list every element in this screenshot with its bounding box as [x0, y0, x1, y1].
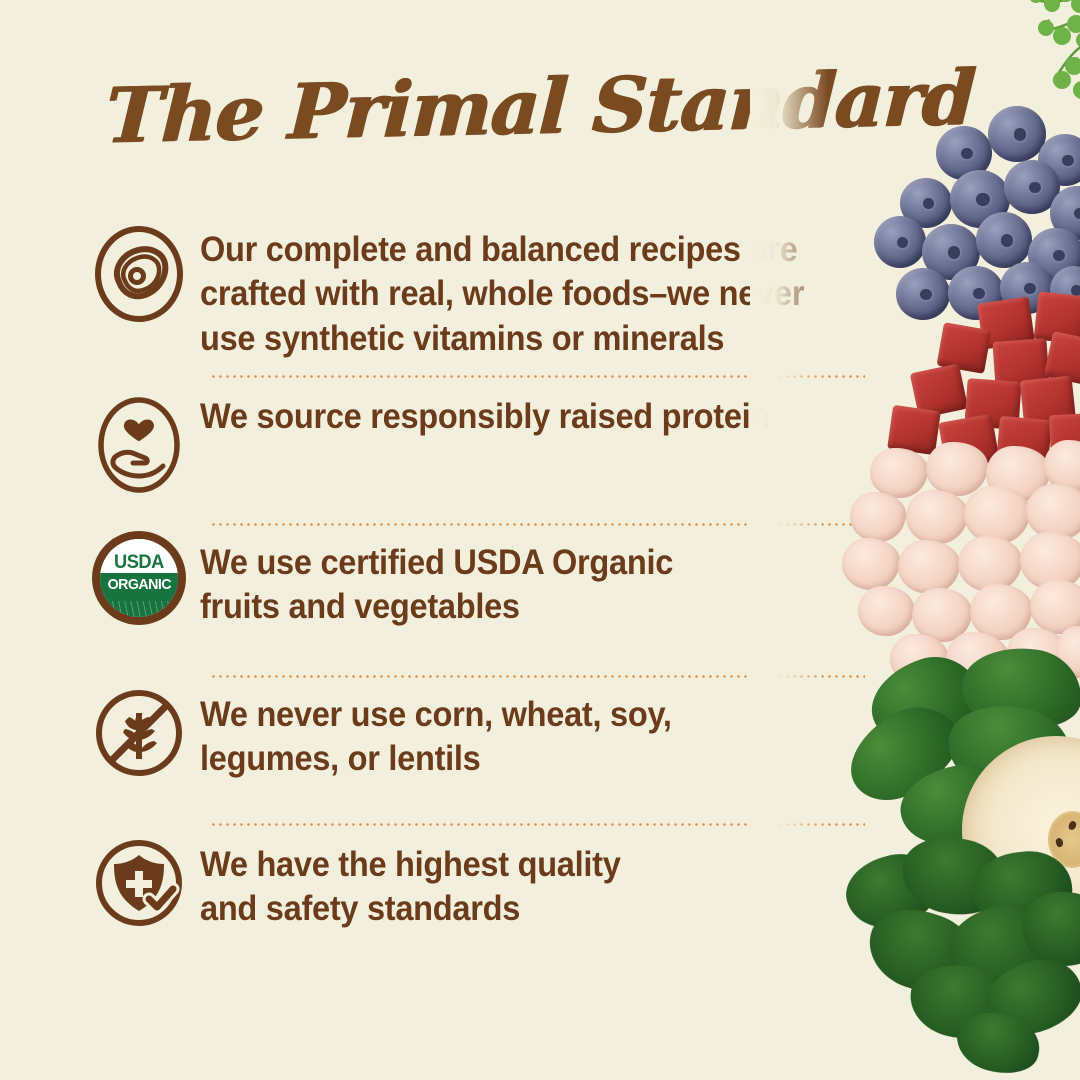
usda-organic-seal-icon: USDA ORGANIC	[78, 525, 200, 625]
usda-seal-top: USDA	[100, 539, 178, 573]
shield-check-icon	[78, 825, 200, 933]
infographic-canvas: The Primal Standard Our complete and bal…	[0, 0, 1080, 1080]
usda-seal: USDA ORGANIC	[92, 531, 186, 625]
standard-text-2: We source responsibly raised protein	[200, 377, 770, 439]
hand-holding-heart-icon	[78, 377, 200, 495]
list-item-standard-4: We never use corn, wheat, soy, legumes, …	[0, 677, 1080, 825]
usda-seal-bottom-label: ORGANIC	[107, 577, 170, 592]
list-item-standard-3: USDA ORGANIC We use certified USDA Organ…	[0, 525, 1080, 677]
standard-text-3: We use certified USDA Organic fruits and…	[200, 525, 673, 630]
standard-text-5: We have the highest quality and safety s…	[200, 825, 621, 932]
list-item-standard-2: We source responsibly raised protein	[0, 377, 1080, 525]
usda-seal-inner: USDA ORGANIC	[100, 539, 178, 617]
standards-list: Our complete and balanced recipes are cr…	[0, 222, 1080, 975]
usda-seal-field-lines	[100, 601, 178, 617]
page-title: The Primal Standard	[0, 51, 1080, 163]
usda-seal-bottom: ORGANIC	[100, 573, 178, 617]
usda-seal-top-label: USDA	[114, 553, 164, 572]
no-grains-icon	[78, 677, 200, 783]
standard-text-1: Our complete and balanced recipes are cr…	[200, 222, 804, 361]
list-item-standard-1: Our complete and balanced recipes are cr…	[0, 222, 1080, 377]
list-item-standard-5: We have the highest quality and safety s…	[0, 825, 1080, 975]
standard-text-4: We never use corn, wheat, soy, legumes, …	[200, 677, 672, 782]
steak-icon	[78, 222, 200, 324]
